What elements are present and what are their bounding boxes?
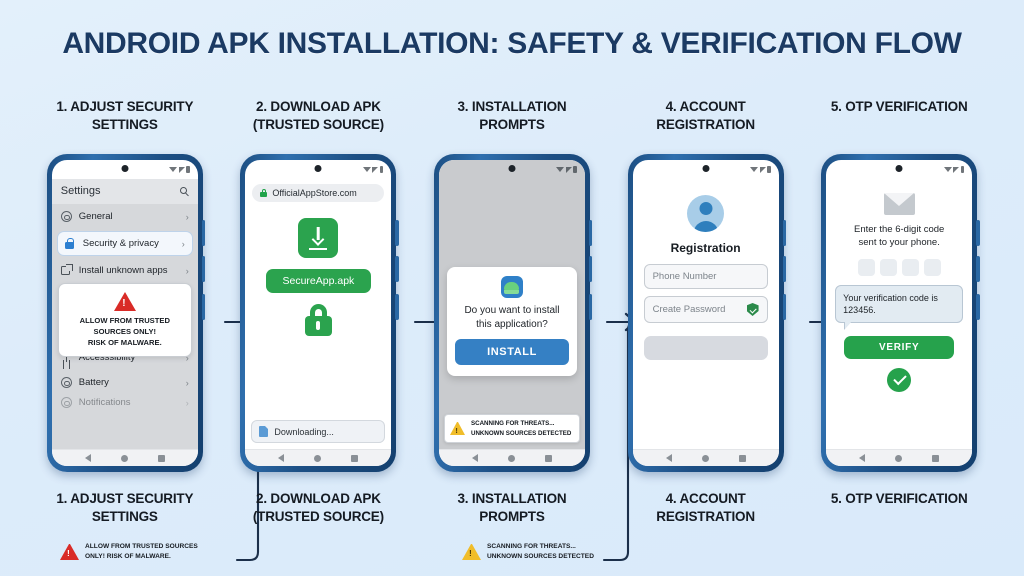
step-1-caption-top: 1. ADJUST SECURITY SETTINGS [37, 98, 212, 146]
footnote-trusted-sources: ! ALLOW FROM TRUSTED SOURCES ONLY! RISK … [60, 542, 240, 562]
settings-row-label: General [79, 211, 113, 222]
settings-row-label: Battery [79, 377, 109, 388]
camera-notch-icon [896, 165, 903, 172]
nav-back-icon[interactable] [472, 454, 478, 462]
settings-row-label: Install unknown apps [79, 265, 168, 276]
footnote-line-2: ONLY! RISK OF MALWARE. [85, 553, 171, 560]
step-4-account-registration: 4. ACCOUNT REGISTRATION Registration [609, 98, 803, 558]
verify-button[interactable]: VERIFY [844, 336, 954, 359]
wifi-icon [169, 167, 177, 172]
nav-home-icon[interactable] [121, 455, 128, 462]
scan-line-1: SCANNING FOR THREATS... [471, 420, 554, 427]
warning-triangle-yellow-icon: ! [450, 422, 465, 435]
phone-mockup-otp: Enter the 6-digit code sent to your phon… [821, 154, 977, 472]
nav-home-icon[interactable] [508, 455, 515, 462]
install-button[interactable]: INSTALL [455, 339, 569, 365]
step-4-caption-top: 4. ACCOUNT REGISTRATION [618, 98, 793, 146]
phone-mockup-install-prompt: Do you want to install this application?… [434, 154, 590, 472]
warning-triangle-red-icon: ! [114, 292, 136, 311]
camera-notch-icon [315, 165, 322, 172]
otp-digit-box[interactable] [902, 259, 919, 276]
camera-notch-icon [702, 165, 709, 172]
phone-number-placeholder: Phone Number [653, 271, 717, 282]
prompt-line-2: this application? [476, 319, 548, 330]
battery-icon [380, 166, 384, 173]
download-status-bar: Downloading... [251, 420, 385, 443]
nav-recents-icon[interactable] [158, 455, 165, 462]
otp-input-group[interactable] [858, 259, 941, 276]
status-bar [52, 160, 198, 179]
nav-recents-icon[interactable] [739, 455, 746, 462]
android-nav-bar [52, 449, 198, 466]
status-bar [245, 160, 391, 179]
sms-line-1: Your verification code [843, 293, 929, 303]
battery-icon [961, 166, 965, 173]
step-1-adjust-security-settings: 1. ADJUST SECURITY SETTINGS Settings [28, 98, 222, 558]
step-3-installation-prompts: 3. INSTALLATION PROMPTS Do you want t [415, 98, 609, 558]
malware-warning-card: ! ALLOW FROM TRUSTED SOURCES ONLY! RISK … [58, 283, 192, 357]
gear-icon [61, 211, 72, 222]
step-2-caption-bottom: 2. DOWNLOAD APK (TRUSTED SOURCE) [231, 490, 406, 526]
android-app-icon [501, 276, 523, 298]
scan-line-2: UNKNOWN SOURCES DETECTED [471, 430, 571, 437]
camera-notch-icon [508, 165, 515, 172]
step-2-caption-top: 2. DOWNLOAD APK (TRUSTED SOURCE) [231, 98, 406, 146]
signal-icon [372, 167, 378, 173]
create-password-field[interactable]: Create Password [644, 296, 768, 323]
battery-icon [767, 166, 771, 173]
nav-back-icon[interactable] [278, 454, 284, 462]
phone-mockup-download: OfficialAppStore.com SecureApp.apk Downl… [240, 154, 396, 472]
camera-notch-icon [121, 165, 128, 172]
shield-check-icon [747, 303, 759, 316]
step-5-caption-bottom: 5. OTP VERIFICATION [812, 490, 987, 508]
flow-steps: 1. ADJUST SECURITY SETTINGS Settings [28, 98, 996, 558]
signal-icon [953, 167, 959, 173]
create-password-placeholder: Create Password [653, 304, 726, 315]
nav-home-icon[interactable] [314, 455, 321, 462]
wifi-icon [363, 167, 371, 172]
nav-recents-icon[interactable] [545, 455, 552, 462]
prompt-line-1: Do you want to install [464, 305, 559, 316]
chevron-right-icon: › [186, 266, 189, 276]
padlock-secure-icon [260, 189, 267, 197]
nav-back-icon[interactable] [666, 454, 672, 462]
download-arrow-icon[interactable] [298, 218, 338, 258]
android-nav-bar [245, 449, 391, 466]
search-icon[interactable] [180, 187, 189, 196]
settings-row-label: Notifications [79, 397, 131, 408]
page-title: ANDROID APK INSTALLATION: SAFETY & VERIF… [0, 27, 1024, 61]
download-status-text: Downloading... [274, 427, 334, 437]
nav-home-icon[interactable] [702, 455, 709, 462]
phone-number-field[interactable]: Phone Number [644, 264, 768, 289]
signal-icon [179, 167, 185, 173]
battery-icon [186, 166, 190, 173]
warning-triangle-red-icon: ! [60, 544, 79, 560]
nav-recents-icon[interactable] [351, 455, 358, 462]
otp-digit-box[interactable] [858, 259, 875, 276]
signal-icon [566, 167, 572, 173]
otp-digit-box[interactable] [880, 259, 897, 276]
lock-icon [65, 238, 76, 249]
footnote-line-1: SCANNING FOR THREATS... [487, 543, 576, 550]
file-document-icon [259, 426, 268, 437]
wifi-icon [556, 167, 564, 172]
status-bar [826, 160, 972, 179]
browser-address-bar[interactable]: OfficialAppStore.com [252, 184, 384, 202]
warning-line-1: ALLOW FROM TRUSTED [80, 316, 170, 325]
step-2-download-apk: 2. DOWNLOAD APK (TRUSTED SOURCE) Officia… [222, 98, 416, 558]
install-confirmation-dialog: Do you want to install this application?… [447, 267, 577, 376]
status-bar [439, 160, 585, 179]
wifi-icon [944, 167, 952, 172]
chevron-right-icon: › [186, 398, 189, 408]
chevron-right-icon: › [186, 212, 189, 222]
footnote-threat-scan: ! SCANNING FOR THREATS... UNKNOWN SOURCE… [462, 542, 642, 562]
apk-file-button[interactable]: SecureApp.apk [266, 269, 371, 293]
bell-icon [61, 397, 72, 408]
nav-home-icon[interactable] [895, 455, 902, 462]
settings-row-battery[interactable]: Battery › [52, 370, 198, 395]
settings-row-general[interactable]: General › [52, 204, 198, 229]
registration-heading: Registration [671, 241, 741, 255]
android-nav-bar [826, 449, 972, 466]
settings-row-install-unknown-apps[interactable]: Install unknown apps › [52, 258, 198, 283]
warning-line-3: RISK OF MALWARE. [88, 338, 162, 347]
nav-back-icon[interactable] [859, 454, 865, 462]
settings-row-notifications[interactable]: Notifications › [52, 395, 198, 415]
otp-instruction-line-2: sent to your phone. [859, 237, 940, 248]
phone-mockup-settings: Settings General › Security & privacy › [47, 154, 203, 472]
status-bar [633, 160, 779, 179]
url-text: OfficialAppStore.com [272, 188, 356, 198]
step-1-caption-bottom: 1. ADJUST SECURITY SETTINGS [37, 490, 212, 526]
settings-title: Settings [61, 185, 101, 197]
nav-back-icon[interactable] [85, 454, 91, 462]
android-nav-bar [439, 449, 585, 466]
external-link-icon [61, 265, 72, 276]
threat-scan-banner: ! SCANNING FOR THREATS... UNKNOWN SOURCE… [444, 414, 580, 443]
settings-row-security-privacy[interactable]: Security & privacy › [57, 231, 193, 256]
gear-icon [61, 377, 72, 388]
footnote-line-1: ALLOW FROM TRUSTED SOURCES [85, 543, 198, 550]
step-5-caption-top: 5. OTP VERIFICATION [812, 98, 987, 146]
otp-digit-box[interactable] [924, 259, 941, 276]
warning-line-2: SOURCES ONLY! [94, 327, 157, 336]
envelope-icon [884, 193, 915, 215]
otp-instruction-line-1: Enter the 6-digit code [854, 224, 944, 235]
android-nav-bar [633, 449, 779, 466]
sms-message-bubble: Your verification code is 123456. [835, 285, 963, 323]
padlock-green-icon [305, 304, 332, 336]
signal-icon [760, 167, 766, 173]
step-3-caption-top: 3. INSTALLATION PROMPTS [424, 98, 599, 146]
phone-mockup-registration: Registration Phone Number Create Passwor… [628, 154, 784, 472]
user-avatar-icon [687, 195, 724, 232]
step-5-otp-verification: 5. OTP VERIFICATION Enter the 6-digit [802, 98, 996, 558]
warning-triangle-yellow-icon: ! [462, 544, 481, 560]
check-circle-icon [887, 368, 911, 392]
step-3-caption-bottom: 3. INSTALLATION PROMPTS [424, 490, 599, 526]
chevron-right-icon: › [186, 378, 189, 388]
wifi-icon [750, 167, 758, 172]
battery-icon [573, 166, 577, 173]
settings-row-label: Security & privacy [83, 238, 159, 249]
submit-button-placeholder[interactable] [644, 336, 768, 360]
footnote-line-2: UNKNOWN SOURCES DETECTED [487, 553, 594, 560]
nav-recents-icon[interactable] [932, 455, 939, 462]
step-4-caption-bottom: 4. ACCOUNT REGISTRATION [618, 490, 793, 526]
settings-header: Settings [52, 179, 198, 204]
chevron-right-icon: › [182, 239, 185, 249]
